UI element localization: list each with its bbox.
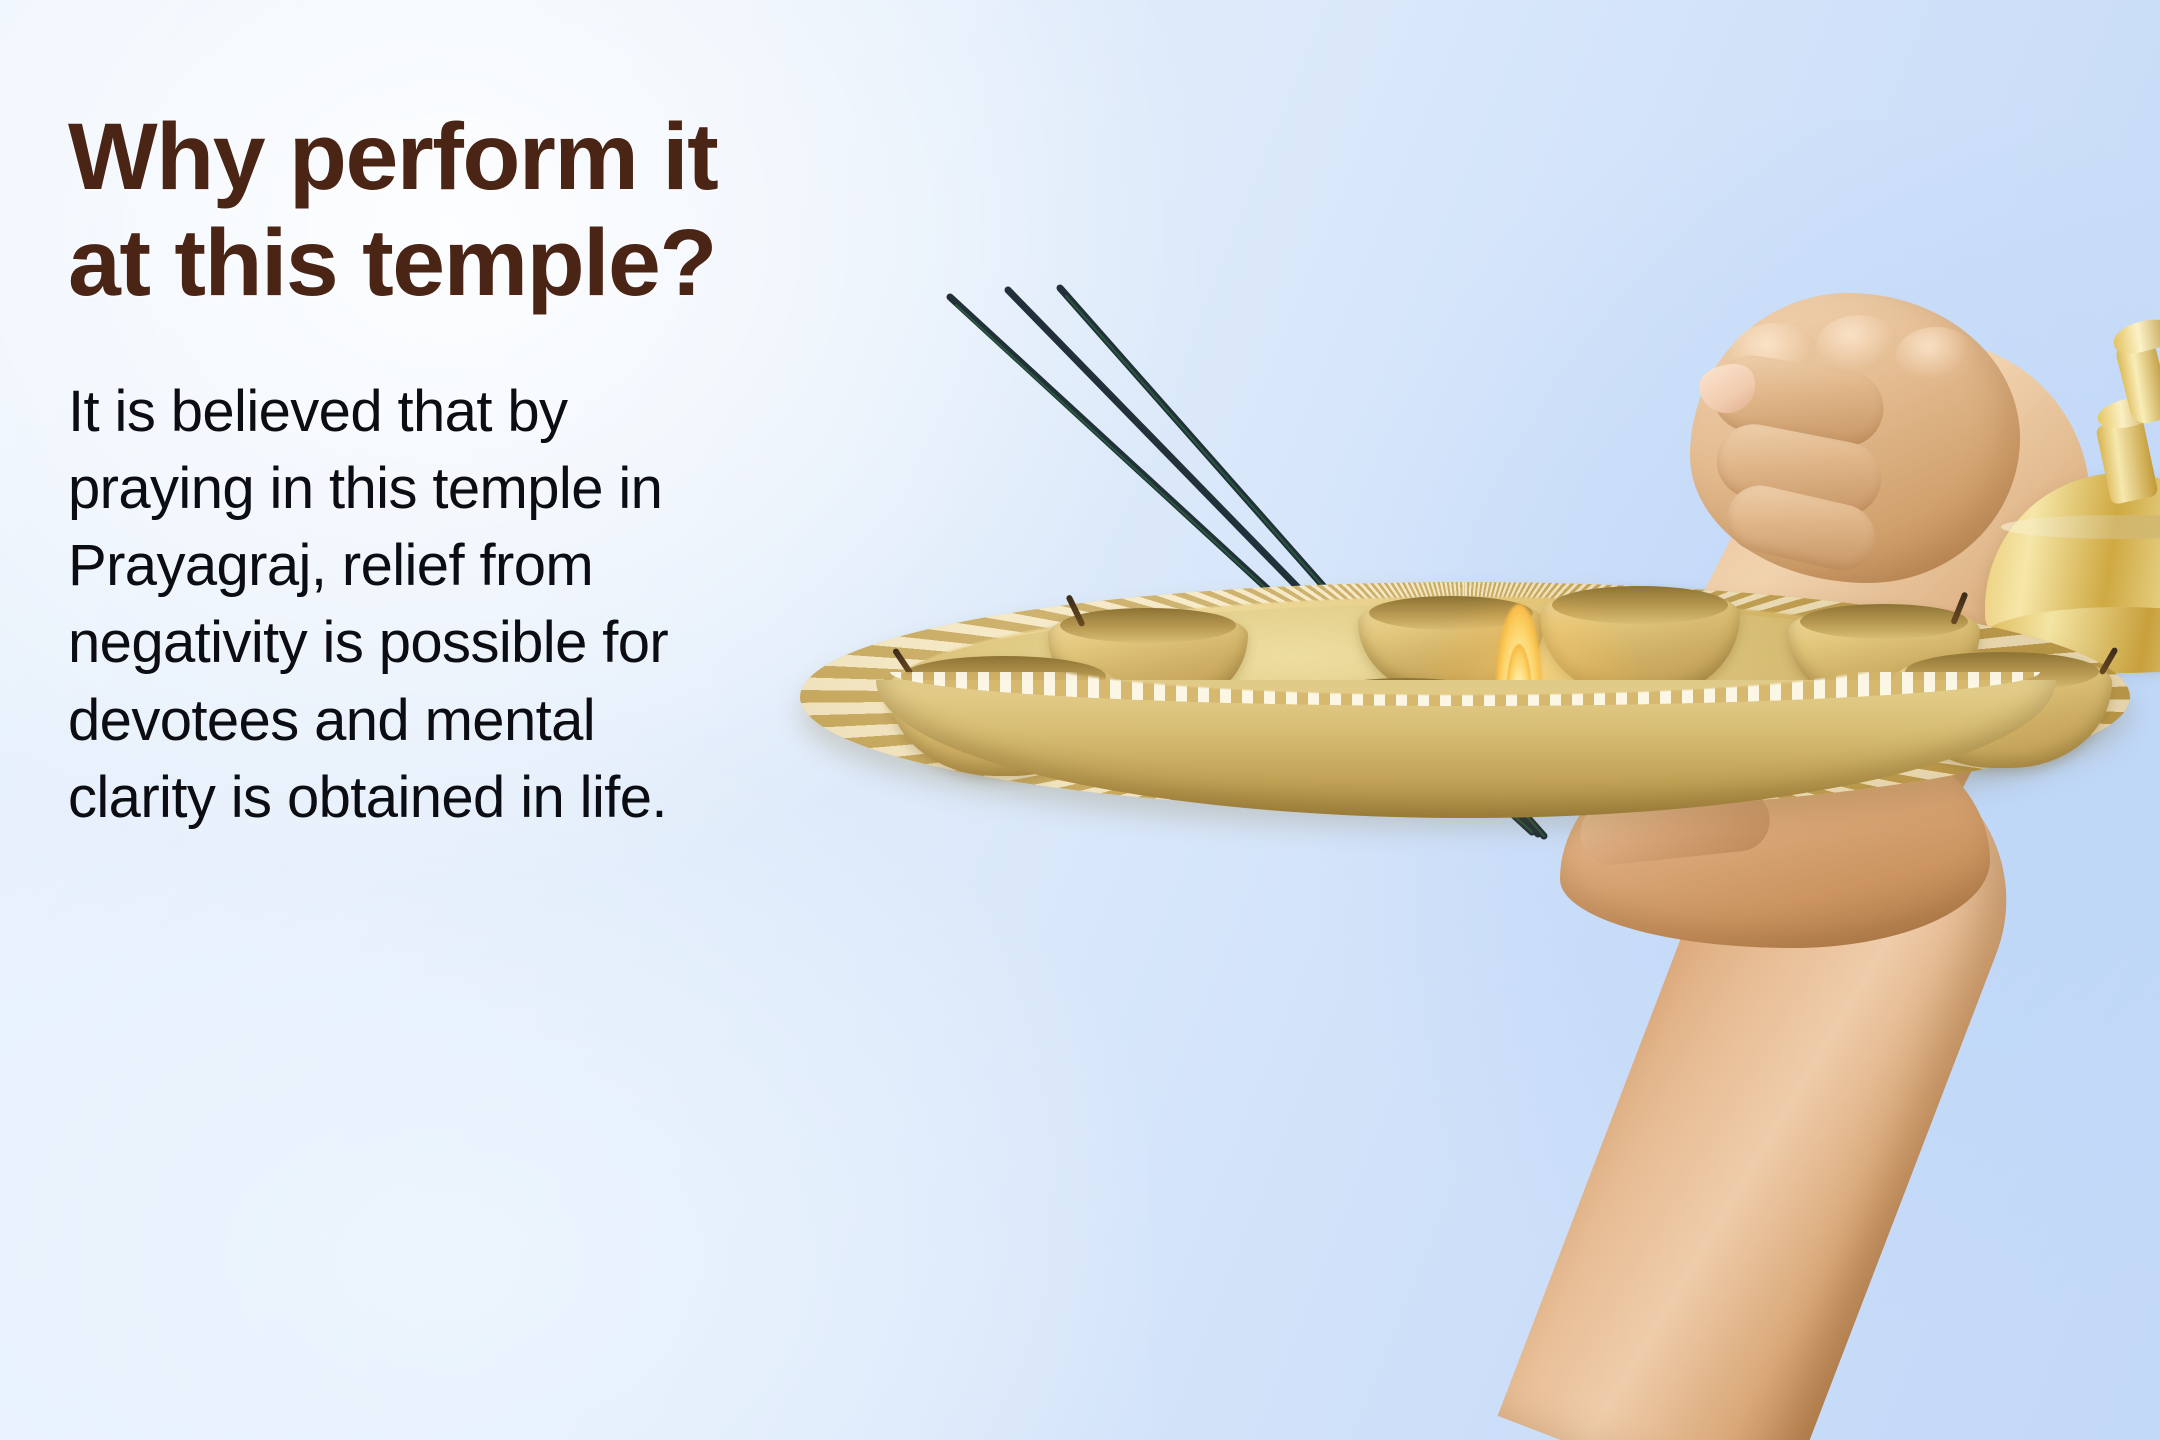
brass-thali xyxy=(780,552,2140,892)
puja-photo xyxy=(760,0,2160,1440)
slide-canvas: Why perform it at this temple? It is bel… xyxy=(0,0,2160,1440)
page-title: Why perform it at this temple? xyxy=(68,104,768,317)
body-paragraph: It is believed that by praying in this t… xyxy=(68,373,748,836)
knuckle xyxy=(1896,327,1976,385)
text-column: Why perform it at this temple? xyxy=(68,104,768,317)
